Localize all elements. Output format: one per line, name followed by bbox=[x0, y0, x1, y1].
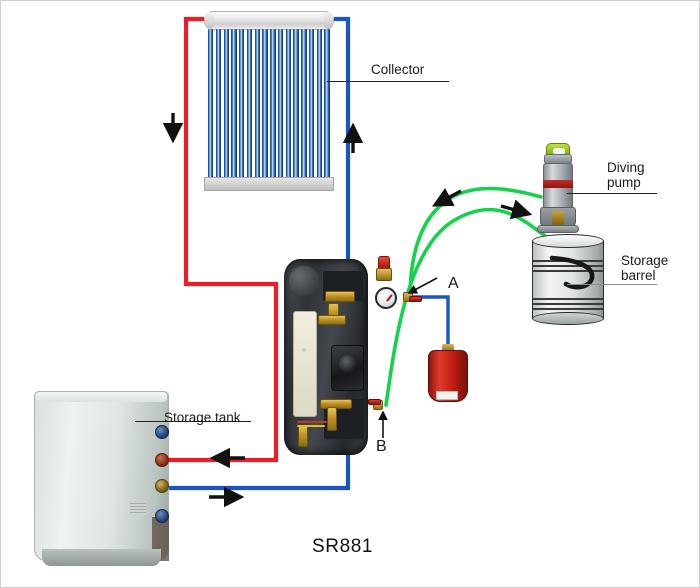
label-valve-a: A bbox=[448, 275, 459, 293]
label-diving-pump: Diving pump bbox=[607, 160, 645, 190]
leader-collector bbox=[327, 81, 449, 82]
diagram-canvas: Collector Diving pump Storage barrel Sto… bbox=[0, 0, 700, 588]
leader-diving-pump bbox=[567, 193, 657, 194]
arrow-hose-return bbox=[501, 206, 529, 214]
label-valve-b: B bbox=[376, 438, 387, 456]
label-storage-barrel: Storage barrel bbox=[621, 253, 668, 283]
label-collector: Collector bbox=[371, 62, 424, 77]
label-storage-tank: Storage tank bbox=[164, 410, 241, 425]
arrow-hose-fill bbox=[435, 191, 461, 205]
flow-arrow-layer bbox=[1, 1, 700, 588]
leader-storage-barrel bbox=[567, 284, 657, 285]
pointer-valve-a bbox=[409, 278, 437, 293]
diagram-title: SR881 bbox=[312, 536, 373, 558]
